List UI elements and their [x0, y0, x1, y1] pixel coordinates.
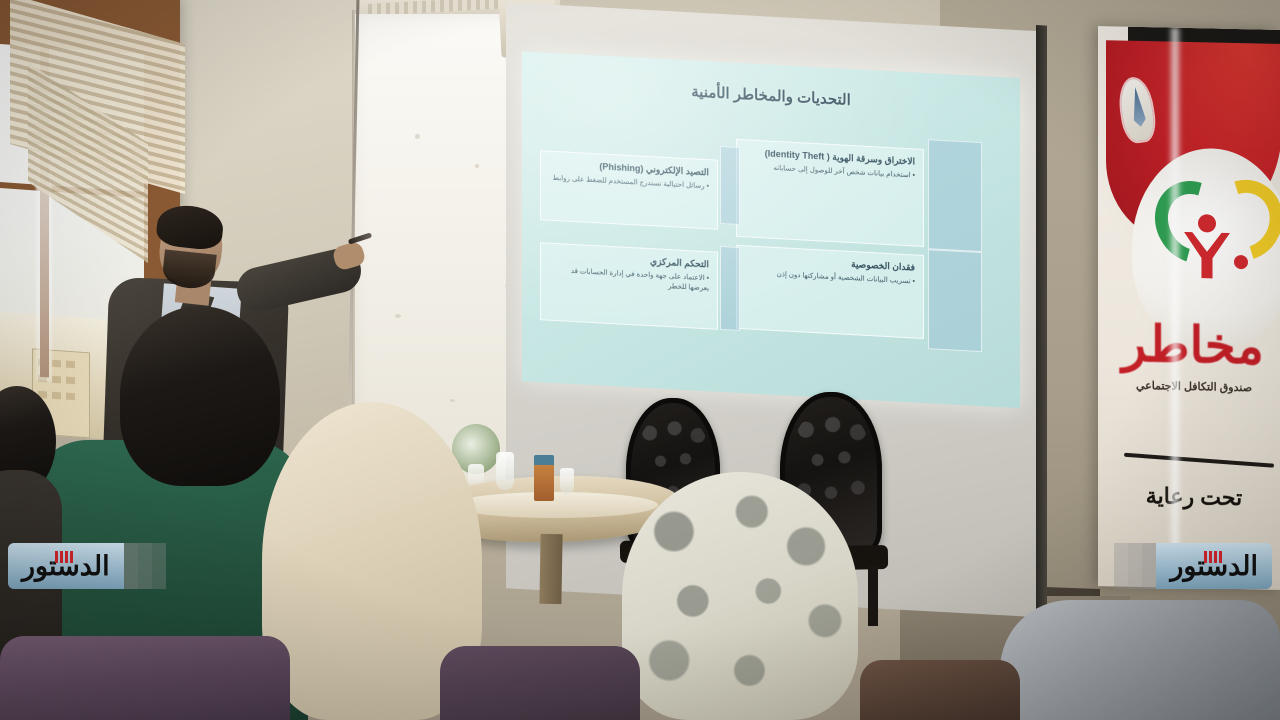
- slide-decor-chip: [720, 146, 740, 225]
- banner-under-patronage: تحت رعاية: [1106, 482, 1280, 512]
- table-leg: [539, 534, 562, 604]
- slide-box-bullet: الاعتماد على جهة واحدة في إدارة الحسابات…: [549, 266, 709, 294]
- drinking-glass: [496, 452, 514, 490]
- slide-box-identity-theft: الاختراق وسرقة الهوية ( Identity Theft) …: [736, 139, 924, 247]
- slide-decor-chip: [928, 249, 982, 352]
- watermark-right: الدستور: [1114, 540, 1272, 592]
- purple-chair: [0, 636, 290, 720]
- attendee-gray-top: [1000, 600, 1280, 720]
- watermark-plate: الدستور: [1156, 543, 1272, 589]
- banner-headline: مخاطر: [1108, 314, 1278, 376]
- slide-title: التحديات والمخاطر الأمنية: [522, 73, 1020, 118]
- slide-box-privacy-loss: فقدان الخصوصية تسريب البيانات الشخصية أو…: [736, 245, 924, 339]
- banner-subtitle: صندوق التكافل الاجتماعي: [1106, 378, 1280, 395]
- watermark-bars: [124, 543, 166, 589]
- table-runner: [452, 492, 658, 518]
- watermark-accent-icon: [55, 551, 75, 563]
- slide-decor-chip: [720, 246, 740, 331]
- logo-figure-head: [1198, 214, 1216, 232]
- juice-carton: [534, 455, 554, 501]
- attendee-green-shirt-head: [120, 306, 280, 486]
- screen-frame-edge: [1036, 25, 1047, 618]
- watermark-accent-icon: [1204, 551, 1224, 563]
- watermark-label: الدستور: [22, 553, 110, 580]
- watermark-bars: [1114, 543, 1156, 589]
- small-glass: [560, 468, 574, 494]
- watermark-plate: الدستور: [8, 543, 124, 589]
- chair-leg: [868, 566, 878, 626]
- attendee-dotted-hijab: [622, 472, 858, 720]
- watermark-left: الدستور: [8, 540, 166, 592]
- slide-box-phishing: التصيد الإلكتروني (Phishing) رسائل احتيا…: [540, 150, 718, 230]
- sponsor-banner: مخاطر صندوق التكافل الاجتماعي تحت رعاية: [1098, 26, 1280, 590]
- purple-chair-second: [440, 646, 640, 720]
- slide-box-central-control: التحكم المركزي الاعتماد على جهة واحدة في…: [540, 242, 718, 330]
- logo-figure-head-small: [1234, 255, 1248, 269]
- presentation-slide: التحديات والمخاطر الأمنية الاختراق وسرقة…: [522, 51, 1020, 408]
- slide-decor-chip: [928, 139, 982, 252]
- wood-chair-back: [860, 660, 1020, 720]
- photo-scene: التحديات والمخاطر الأمنية الاختراق وسرقة…: [0, 0, 1280, 720]
- watermark-label: الدستور: [1170, 553, 1258, 580]
- solidarity-logo: [1150, 175, 1262, 289]
- banner-divider: [1124, 453, 1274, 468]
- banner-highlight: [1168, 28, 1182, 588]
